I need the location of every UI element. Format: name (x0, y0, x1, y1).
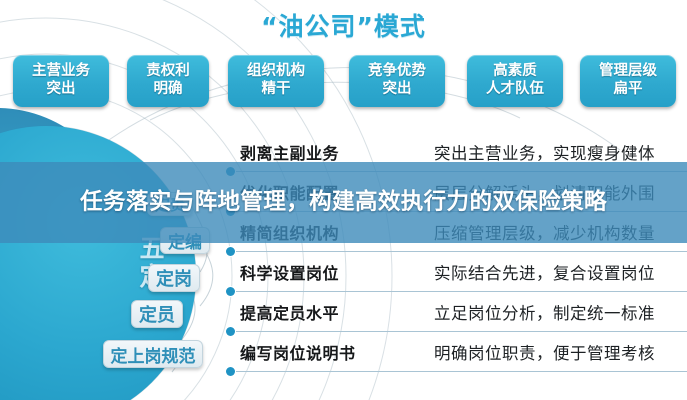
attribute-box-label: 高素质人才队伍 (486, 63, 544, 98)
attribute-box-organization: 组织机构精干 (228, 55, 324, 107)
measure-value: 实际结合先进，复合设置岗位 (402, 260, 687, 284)
page-title: “油公司”模式 (0, 7, 687, 43)
attribute-box-main-business: 主营业务突出 (13, 55, 109, 107)
overlay-banner-text: 任务落实与阵地管理，构建高效执行力的双保险策略 (31, 188, 656, 218)
attribute-box-flat-levels: 管理层级扁平 (580, 55, 676, 107)
bullet-dot-icon (226, 327, 235, 336)
attribute-box-label: 责权利明确 (146, 63, 190, 98)
attribute-box-rights-duties: 责权利明确 (127, 55, 209, 107)
bullet-dot-icon (226, 247, 235, 256)
measure-row: 提高定员水平立足岗位分析，制定统一标准 (236, 292, 687, 332)
ding-yuan: 定员 (131, 300, 183, 328)
ding-gang: 定岗 (148, 264, 200, 292)
ding-gui: 定上岗规范 (103, 340, 203, 368)
measure-row: 编写岗位说明书明确岗位职责，便于管理考核 (236, 332, 687, 372)
measure-row: 科学设置岗位实际结合先进，复合设置岗位 (236, 252, 687, 292)
slide-canvas: 五定 “油公司”模式 主营业务突出责权利明确组织机构精干竞争优势突出高素质人才队… (0, 0, 687, 400)
attribute-box-label: 管理层级扁平 (599, 63, 657, 98)
attribute-box-talent: 高素质人才队伍 (467, 55, 563, 107)
measure-value: 明确岗位职责，便于管理考核 (402, 340, 687, 364)
bullet-dot-icon (226, 367, 235, 376)
attribute-box-label: 主营业务突出 (32, 63, 90, 98)
measure-key: 编写岗位说明书 (236, 340, 402, 364)
attribute-box-advantage: 竞争优势突出 (349, 55, 445, 107)
measure-key: 剥离主副业务 (236, 140, 402, 164)
measure-key: 提高定员水平 (236, 300, 402, 324)
measure-value: 突出主营业务，实现瘦身健体 (402, 140, 687, 164)
attribute-box-row: 主营业务突出责权利明确组织机构精干竞争优势突出高素质人才队伍管理层级扁平 (0, 55, 687, 107)
overlay-banner: 任务落实与阵地管理，构建高效执行力的双保险策略 (0, 162, 687, 243)
bullet-dot-icon (226, 287, 235, 296)
attribute-box-label: 组织机构精干 (247, 63, 305, 98)
attribute-box-label: 竞争优势突出 (368, 63, 426, 98)
measure-value: 立足岗位分析，制定统一标准 (402, 300, 687, 324)
measure-key: 科学设置岗位 (236, 260, 402, 284)
